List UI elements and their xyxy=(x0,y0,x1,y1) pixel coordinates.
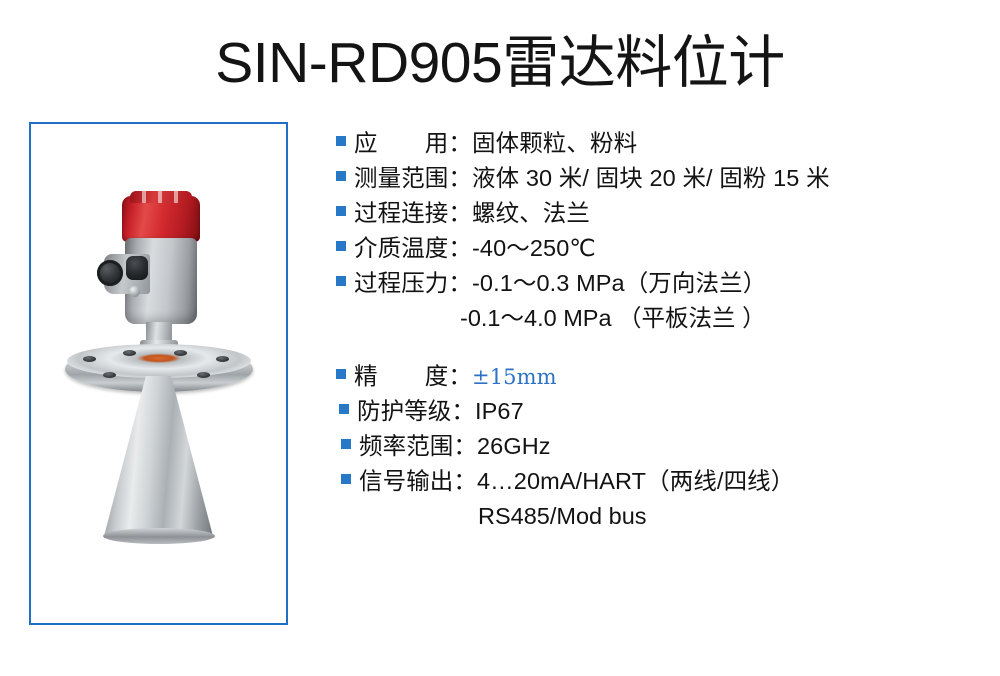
spec-row-signal-output: 信号输出：4…20mA/HART（两线/四线） xyxy=(336,464,976,499)
spec-text-signal-output-line2: RS485/Mod bus xyxy=(336,499,976,537)
product-photo-frame xyxy=(29,122,288,625)
bullet-square-icon xyxy=(336,276,346,286)
flange-bolt-hole-icon xyxy=(197,372,210,378)
spec-row-frequency-range: 频率范围：26GHz xyxy=(336,429,976,464)
spec-row-process-connection: 过程连接：螺纹、法兰 xyxy=(336,196,976,231)
spec-row-medium-temperature: 介质温度：-40～250℃ xyxy=(336,231,976,266)
flange-bolt-hole-icon xyxy=(103,372,116,378)
spec-text-protection-grade: 防护等级：IP67 xyxy=(357,394,524,428)
flange-bolt-hole-icon xyxy=(216,356,229,362)
device-cable-gland-primary-icon xyxy=(97,260,123,286)
flange-bolt-hole-icon xyxy=(123,350,136,356)
spec-group-divider xyxy=(336,336,976,359)
bullet-square-icon xyxy=(336,369,346,379)
spec-row-process-pressure: 过程压力：-0.1～0.3 MPa（万向法兰） xyxy=(336,266,976,301)
spec-text-medium-temperature: 介质温度：-40～250℃ xyxy=(354,231,596,265)
bullet-square-icon xyxy=(336,206,346,216)
spec-text-frequency-range: 频率范围：26GHz xyxy=(359,429,551,463)
spec-text-process-connection: 过程连接：螺纹、法兰 xyxy=(354,196,590,230)
spec-text-signal-output: 信号输出：4…20mA/HART（两线/四线） xyxy=(359,464,794,498)
device-neck-icon xyxy=(146,322,172,342)
spec-row-application: 应 用：固体颗粒、粉料 xyxy=(336,126,976,161)
accuracy-value: ±15mm xyxy=(472,365,557,389)
flange-bolt-hole-icon xyxy=(174,350,187,356)
page-title: SIN-RD905雷达料位计 xyxy=(0,30,1000,97)
device-cable-gland-secondary-icon xyxy=(126,256,148,280)
bullet-square-icon xyxy=(336,136,346,146)
bullet-square-icon xyxy=(341,474,351,484)
spec-row-measuring-range: 测量范围：液体 30 米/ 固块 20 米/ 固粉 15 米 xyxy=(336,161,976,196)
specification-list: 应 用：固体颗粒、粉料 测量范围：液体 30 米/ 固块 20 米/ 固粉 15… xyxy=(336,126,976,537)
device-screw-icon xyxy=(129,286,140,297)
device-cone-rim-icon xyxy=(103,528,215,544)
spec-row-accuracy: 精 度：±15mm xyxy=(336,359,976,394)
spec-text-process-pressure-line2: -0.1～4.0 MPa （平板法兰 ） xyxy=(336,301,976,336)
product-photo xyxy=(31,124,286,623)
spec-text-application: 应 用：固体颗粒、粉料 xyxy=(354,126,637,160)
device-red-cap-icon xyxy=(122,196,200,242)
bullet-square-icon xyxy=(341,439,351,449)
bullet-square-icon xyxy=(339,404,349,414)
bullet-square-icon xyxy=(336,241,346,251)
bullet-square-icon xyxy=(336,171,346,181)
flange-bolt-hole-icon xyxy=(83,356,96,362)
device-cone-antenna-icon xyxy=(104,376,214,538)
spec-text-measuring-range: 测量范围：液体 30 米/ 固块 20 米/ 固粉 15 米 xyxy=(354,161,830,195)
spec-text-accuracy: 精 度：±15mm xyxy=(354,359,557,394)
spec-text-process-pressure: 过程压力：-0.1～0.3 MPa（万向法兰） xyxy=(354,266,766,300)
spec-row-protection-grade: 防护等级：IP67 xyxy=(336,394,976,429)
